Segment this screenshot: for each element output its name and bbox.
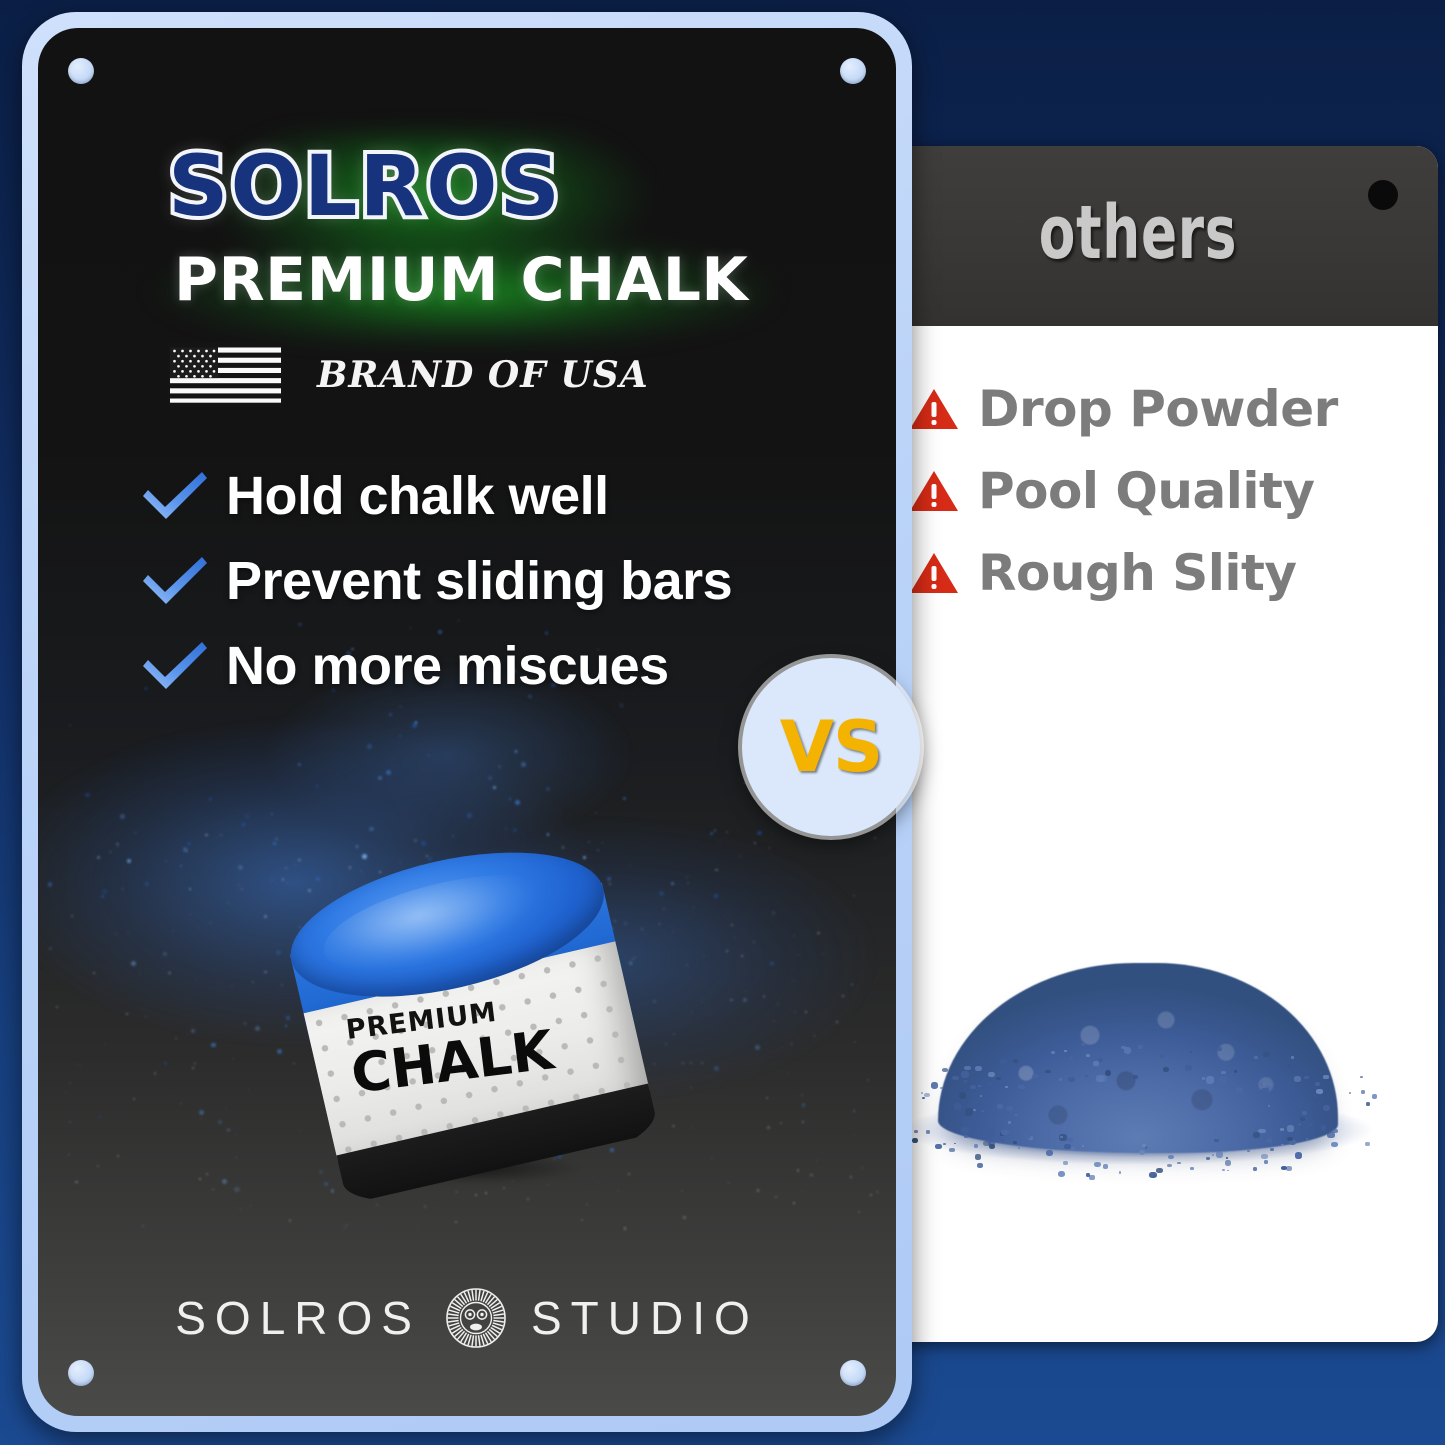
check-icon — [138, 465, 212, 527]
vs-badge: VS — [742, 658, 920, 836]
others-panel-header: others — [838, 146, 1438, 326]
screw-icon — [840, 1360, 866, 1386]
screw-icon — [68, 1360, 94, 1386]
mounting-hole-icon — [1368, 180, 1398, 210]
warning-triangle-icon — [908, 550, 960, 596]
list-item-label: No more miscues — [226, 639, 669, 693]
list-item-label: Rough Slity — [978, 548, 1297, 598]
screw-icon — [68, 58, 94, 84]
list-item: Hold chalk well — [138, 453, 838, 538]
sun-face-logo-icon — [421, 1287, 531, 1349]
vs-badge-label: VS — [780, 712, 883, 782]
brand-title: SOLROS — [168, 144, 562, 228]
list-item: Prevent sliding bars — [138, 538, 838, 623]
origin-row: BRAND OF USA — [168, 342, 649, 408]
drawbacks-list: Drop Powder Pool Quality Rough Slity — [908, 368, 1428, 614]
screw-icon — [840, 58, 866, 84]
list-item: Pool Quality — [908, 450, 1428, 532]
list-item-label: Hold chalk well — [226, 469, 609, 523]
list-item: Rough Slity — [908, 532, 1428, 614]
loose-blue-chalk-powder-pile — [878, 846, 1398, 1246]
origin-label: BRAND OF USA — [317, 354, 649, 396]
others-title: others — [922, 196, 1354, 270]
benefits-list: Hold chalk well Prevent sliding bars — [138, 453, 838, 708]
check-icon — [138, 550, 212, 612]
list-item-label: Drop Powder — [978, 384, 1338, 434]
brand-footer: SOLROS STUDIO — [38, 1282, 896, 1354]
vs-badge-circle: VS — [755, 671, 907, 823]
list-item: Drop Powder — [908, 368, 1428, 450]
check-icon — [138, 635, 212, 697]
us-flag-grayscale-icon — [168, 342, 283, 408]
list-item-label: Pool Quality — [978, 466, 1315, 516]
footer-brand-left: SOLROS — [175, 1295, 421, 1341]
list-item: No more miscues — [138, 623, 838, 708]
warning-triangle-icon — [908, 468, 960, 514]
others-panel: others Drop Powder Pool Quality Rough Sl… — [838, 146, 1438, 1342]
list-item-label: Prevent sliding bars — [226, 554, 732, 608]
premium-chalk-cube: PREMIUM CHALK — [270, 828, 690, 1248]
footer-brand-right: STUDIO — [531, 1295, 759, 1341]
page-title: PREMIUM CHALK — [174, 250, 748, 310]
warning-triangle-icon — [908, 386, 960, 432]
